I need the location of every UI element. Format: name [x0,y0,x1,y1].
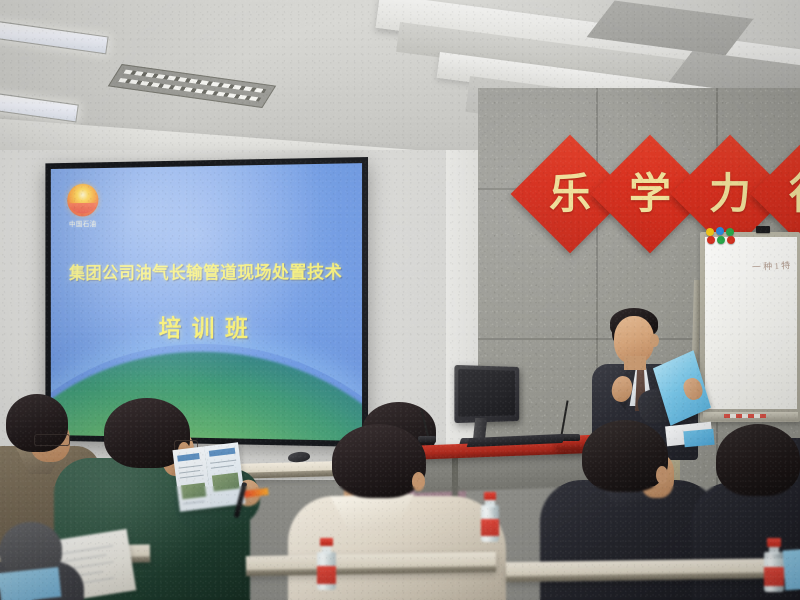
bottle-label [481,519,499,536]
bottle-neck [322,545,332,553]
monitor-panel [454,365,519,423]
attendee-ear [412,472,425,491]
banner-glyph: 行 [789,173,800,215]
attendee-hair [582,420,668,492]
booklet-heading-bar [209,448,236,457]
presenter-neck [624,356,646,370]
monitor-screen [458,369,515,417]
attendee-blue-handout [783,546,800,591]
booklet-text-line [211,465,234,469]
whiteboard-magnet [706,228,714,236]
bottle-label [764,567,784,585]
attendee-hair [332,424,426,498]
slide-title-main: 集团公司油气长输管道现场处置技术 [54,259,358,285]
whiteboard-magnet [717,236,725,244]
photo-scene: 乐 学 力 行 一 种 1 特 中国石油 集团公司油气长输管道现 [0,0,800,600]
banner-glyph: 乐 [549,173,591,215]
booklet-text-line [179,465,203,469]
water-bottle [481,492,499,542]
bottle-cap [484,492,496,500]
banner-glyph: 力 [709,173,751,215]
whiteboard-magnet [716,227,724,235]
whiteboard-magnet [727,236,735,244]
bottle-cap [320,538,333,546]
bottle-cap [767,538,781,547]
presenter-ear [650,334,659,347]
booklet-color-accent [244,488,269,498]
attendee-blue-handout [0,567,61,600]
bottle-neck [485,499,494,507]
booklet-photo [181,483,207,500]
training-booklet [172,442,245,512]
booklet-text-line [179,470,200,474]
booklet-heading-bar [177,453,200,462]
ceiling-light-fixture [0,92,79,123]
banner-glyph: 学 [629,173,671,215]
water-bottle [317,538,336,590]
whiteboard-magnet [726,228,734,236]
bottle-label [317,566,336,584]
booklet-photo [212,472,240,491]
whiteboard: 一 种 1 特 [700,232,800,422]
attendee-ear [656,466,668,484]
petrochina-sun-logo-icon: 中国石油 [64,183,103,233]
booklet-text-line [180,475,204,479]
sun-logo-mark-icon [67,184,98,217]
ceiling-vent-grille-icon [108,64,276,108]
ceiling-light-fixture [0,20,109,55]
attendee-hair [716,424,800,496]
whiteboard-clip [756,226,770,233]
whiteboard-writing: 一 种 1 特 [752,259,800,275]
booklet-text-line [183,501,205,505]
water-bottle [764,538,784,592]
slide-title-sub: 培训班 [51,309,362,344]
attendee-table [506,558,800,582]
booklet-text-line [210,460,236,465]
whiteboard-magnet [707,236,715,244]
logo-caption: 中国石油 [64,219,103,229]
bottle-neck [769,546,779,555]
